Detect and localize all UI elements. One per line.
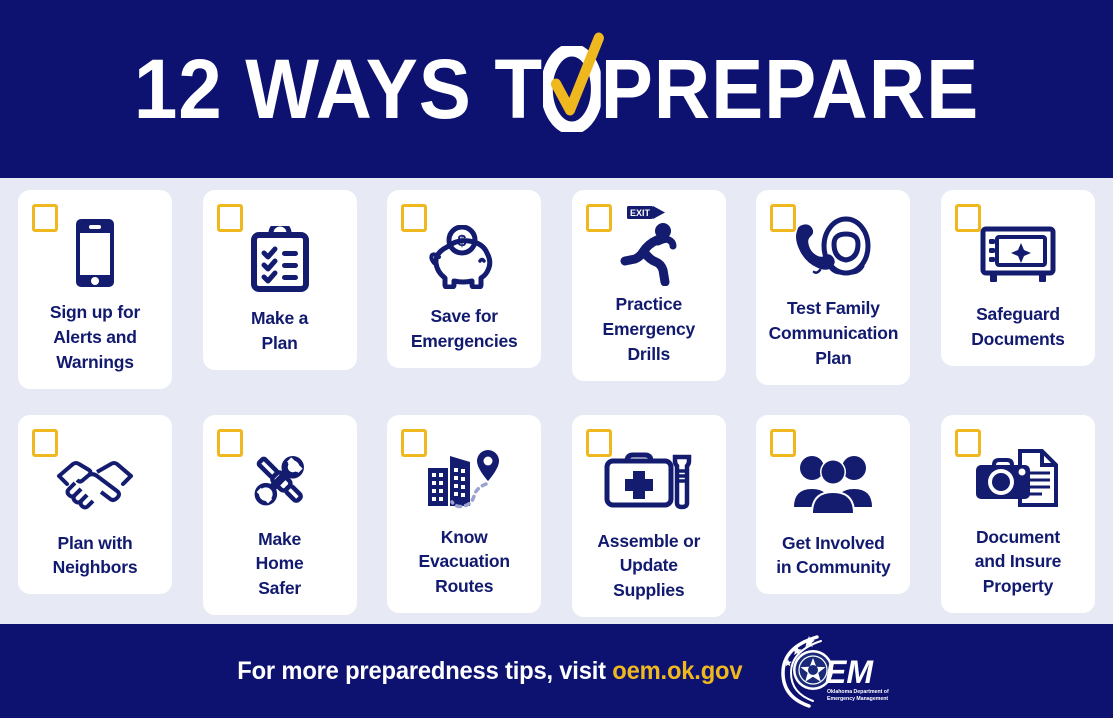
- page-title: 12 WAYS T PREPARE: [134, 46, 979, 132]
- checkbox-6[interactable]: [955, 204, 981, 232]
- checkbox-8[interactable]: [217, 429, 243, 457]
- footer-tagline: For more preparedness tips, visit oem.ok…: [237, 657, 742, 686]
- card-label: Plan withNeighbors: [51, 531, 140, 581]
- preparedness-poster: 12 WAYS T PREPARE Sign up forAlerts andW…: [0, 0, 1113, 718]
- card-make-a-plan[interactable]: Make aPlan: [203, 190, 357, 370]
- footer-url-link[interactable]: oem.ok.gov: [612, 657, 742, 685]
- card-label: Save forEmergencies: [409, 304, 520, 354]
- card-label: Assemble orUpdateSupplies: [595, 529, 702, 604]
- person-head: [824, 219, 868, 273]
- card-know-evacuation-routes[interactable]: KnowEvacuationRoutes: [387, 415, 541, 614]
- card-test-family-communication-plan[interactable]: Test FamilyCommunicationPlan: [756, 190, 910, 385]
- svg-text:EM: EM: [825, 654, 874, 690]
- card-label: SafeguardDocuments: [969, 302, 1067, 352]
- poster-footer: For more preparedness tips, visit oem.ok…: [0, 624, 1113, 718]
- logo-line-1: Oklahoma Department of: [827, 689, 889, 695]
- checkbox-11[interactable]: [770, 429, 796, 457]
- logo-line-2: Emergency Management: [827, 696, 888, 702]
- card-row-1: Sign up forAlerts andWarnings: [18, 190, 1095, 389]
- card-label: PracticeEmergencyDrills: [601, 292, 698, 367]
- footer-text-label: For more preparedness tips, visit: [237, 657, 606, 685]
- card-assemble-or-update-supplies[interactable]: Assemble orUpdateSupplies: [572, 415, 726, 618]
- card-plan-with-neighbors[interactable]: Plan withNeighbors: [18, 415, 172, 595]
- checkbox-7[interactable]: [32, 429, 58, 457]
- card-get-involved-in-community[interactable]: Get Involvedin Community: [756, 415, 910, 595]
- svg-text:EXIT: EXIT: [630, 208, 651, 218]
- card-label: Test FamilyCommunicationPlan: [767, 296, 901, 371]
- title-text-before: 12 WAYS T: [134, 47, 543, 131]
- card-safeguard-documents[interactable]: SafeguardDocuments: [941, 190, 1095, 366]
- checkbox-4[interactable]: [586, 204, 612, 232]
- first-aid-kit: [607, 455, 671, 505]
- card-save-for-emergencies[interactable]: $ Save forEmergencies: [387, 190, 541, 368]
- card-label: Sign up forAlerts andWarnings: [48, 300, 142, 375]
- card-sign-up-for-alerts[interactable]: Sign up forAlerts andWarnings: [18, 190, 172, 389]
- checkbox-5[interactable]: [770, 204, 796, 232]
- card-document-and-insure-property[interactable]: Documentand InsureProperty: [941, 415, 1095, 614]
- checkbox-10[interactable]: [586, 429, 612, 457]
- card-row-2: Plan withNeighbors: [18, 415, 1095, 618]
- card-label: MakeHomeSafer: [254, 527, 306, 602]
- checkbox-2[interactable]: [217, 204, 243, 232]
- poster-header: 12 WAYS T PREPARE: [0, 0, 1113, 178]
- running-person: [625, 223, 673, 282]
- letter-o-glyph: [543, 46, 601, 132]
- checkbox-1[interactable]: [32, 204, 58, 232]
- card-grid: Sign up forAlerts andWarnings: [0, 178, 1113, 624]
- title-text-after: PREPARE: [601, 47, 979, 131]
- card-practice-emergency-drills[interactable]: EXIT PracticeEmergencyDrills: [572, 190, 726, 381]
- card-label: Get Involvedin Community: [774, 531, 892, 581]
- card-label: Documentand InsureProperty: [973, 525, 1064, 600]
- title-o-with-check: [543, 46, 601, 132]
- card-make-home-safer[interactable]: MakeHomeSafer: [203, 415, 357, 616]
- water-bottle: [675, 457, 689, 507]
- camera: [976, 460, 1030, 499]
- checkbox-12[interactable]: [955, 429, 981, 457]
- exit-sign: EXIT: [627, 206, 665, 219]
- checkbox-3[interactable]: [401, 204, 427, 232]
- svg-text:$: $: [458, 233, 467, 250]
- card-label: Make aPlan: [249, 306, 310, 356]
- checkbox-9[interactable]: [401, 429, 427, 457]
- card-label: KnowEvacuationRoutes: [417, 525, 512, 600]
- oem-seal-logo: EM Oklahoma Department of Emergency Mana…: [769, 633, 889, 709]
